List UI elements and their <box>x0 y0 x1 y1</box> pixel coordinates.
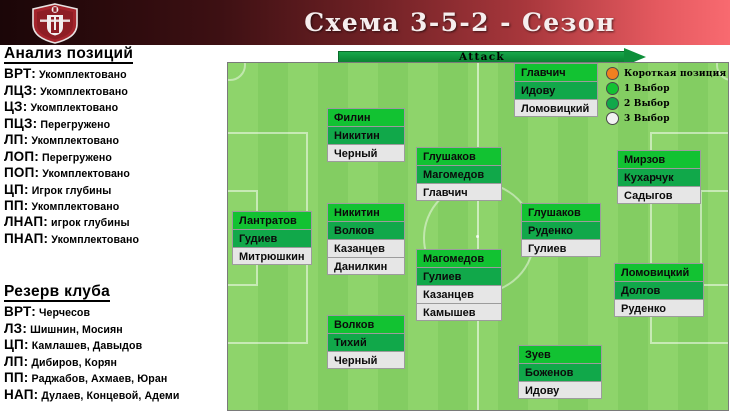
pitch-centre-spot <box>476 235 479 238</box>
analysis-row-position: ПП: <box>4 198 29 213</box>
reserve-list: ВРТ: ЧерчесовЛЗ: Шишнин, МосиянЦП: Камла… <box>0 304 222 403</box>
player-card[interactable]: Черный <box>327 144 405 162</box>
analysis-row-position: ЛЦЗ: <box>4 83 37 98</box>
player-card[interactable]: Митрюшкин <box>232 247 312 265</box>
reserve-heading: Резерв клуба <box>4 284 110 302</box>
analysis-row: ПОП: Укомплектовано <box>4 165 222 181</box>
analysis-row: ПП: Укомплектовано <box>4 198 222 214</box>
legend-item: Короткая позиция <box>606 66 728 81</box>
reserve-row: ПП: Раджабов, Ахмаев, Юран <box>4 370 222 386</box>
position-group-left-striker[interactable]: ГлавчичИдовуЛомовицкий <box>514 63 598 117</box>
analysis-heading: Анализ позиций <box>4 46 133 64</box>
player-card[interactable]: Тихий <box>327 333 405 351</box>
analysis-row: ЛНАП: игрок глубины <box>4 214 222 230</box>
player-card[interactable]: Кухарчук <box>617 168 701 186</box>
position-group-right-defensive-mid[interactable]: ГлушаковРуденкоГулиев <box>521 203 601 257</box>
reserve-row-position: ВРТ: <box>4 304 36 319</box>
player-card[interactable]: Волков <box>327 315 405 333</box>
legend-swatch-icon <box>606 112 619 125</box>
reserve-row: НАП: Дулаев, Концевой, Адеми <box>4 387 222 403</box>
analysis-row-position: ПОП: <box>4 165 39 180</box>
reserve-row-value: Раджабов, Ахмаев, Юран <box>29 373 168 385</box>
player-card[interactable]: Данилкин <box>327 257 405 275</box>
player-card[interactable]: Казанцев <box>416 285 502 303</box>
analysis-row-value: Укомплектовано <box>36 69 127 81</box>
analysis-row: ПНАП: Укомплектовано <box>4 231 222 247</box>
player-card[interactable]: Руденко <box>521 221 601 239</box>
player-card[interactable]: Гулиев <box>416 267 502 285</box>
analysis-row-value: игрок глубины <box>48 217 130 229</box>
player-card[interactable]: Никитин <box>327 203 405 221</box>
player-card[interactable]: Боженов <box>518 363 602 381</box>
player-card[interactable]: Главчич <box>514 63 598 81</box>
player-card[interactable]: Садыгов <box>617 186 701 204</box>
player-card[interactable]: Руденко <box>614 299 704 317</box>
legend-item-label: 3 Выбор <box>624 114 670 124</box>
club-crest-logo <box>25 2 85 44</box>
reserve-row-value: Шишнин, Мосиян <box>27 324 123 336</box>
legend-swatch-icon <box>606 82 619 95</box>
reserve-row: ЛЗ: Шишнин, Мосиян <box>4 321 222 337</box>
sidebar-panel: Анализ позиций ВРТ: УкомплектованоЛЦЗ: У… <box>0 45 222 411</box>
position-group-centre-back[interactable]: НикитинВолковКазанцевДанилкин <box>327 203 405 275</box>
player-card[interactable]: Гудиев <box>232 229 312 247</box>
legend-item-label: 2 Выбор <box>624 99 670 109</box>
legend-item: 3 Выбор <box>606 111 728 126</box>
reserve-row: ЦП: Камлашев, Давыдов <box>4 337 222 353</box>
player-card[interactable]: Глушаков <box>521 203 601 221</box>
slide-root: Схема 3-5-2 - Сезон Анализ позиций ВРТ: … <box>0 0 730 411</box>
reserve-row-position: ЛЗ: <box>4 321 27 336</box>
reserve-row: ЛП: Дибиров, Корян <box>4 354 222 370</box>
legend-item: 2 Выбор <box>606 96 728 111</box>
title-bar: Схема 3-5-2 - Сезон <box>0 0 730 45</box>
analysis-row-position: ЛП: <box>4 132 28 147</box>
position-group-goalkeeper[interactable]: ЛантратовГудиевМитрюшкин <box>232 211 312 265</box>
analysis-row: ЛЦЗ: Укомплектовано <box>4 83 222 99</box>
analysis-row: ЛП: Укомплектовано <box>4 132 222 148</box>
analysis-row: ВРТ: Укомплектовано <box>4 66 222 82</box>
player-card[interactable]: Гулиев <box>521 239 601 257</box>
reserve-row-value: Дулаев, Концевой, Адеми <box>38 390 179 402</box>
position-group-left-winger[interactable]: ЗуевБоженовИдову <box>518 345 602 399</box>
player-card[interactable]: Идову <box>518 381 602 399</box>
player-card[interactable]: Глушаков <box>416 147 502 165</box>
analysis-row: ЦП: Игрок глубины <box>4 182 222 198</box>
position-group-left-centre-back[interactable]: ФилинНикитинЧерный <box>327 108 405 162</box>
analysis-row: ПЦЗ: Перегружено <box>4 116 222 132</box>
player-card[interactable]: Камышев <box>416 303 502 321</box>
player-card[interactable]: Магомедов <box>416 249 502 267</box>
reserve-row-value: Черчесов <box>36 307 90 319</box>
analysis-row-position: ЦЗ: <box>4 99 27 114</box>
analysis-row-position: ПНАП: <box>4 231 48 246</box>
reserve-row-position: ЦП: <box>4 337 29 352</box>
page-title: Схема 3-5-2 - Сезон <box>200 0 720 45</box>
reserve-row-position: ПП: <box>4 370 29 385</box>
pitch-right-six-yard-box <box>700 190 729 286</box>
analysis-row: ЦЗ: Укомплектовано <box>4 99 222 115</box>
player-card[interactable]: Волков <box>327 221 405 239</box>
position-group-right-winger[interactable]: ЛомовицкийДолговРуденко <box>614 263 704 317</box>
analysis-list: ВРТ: УкомплектованоЛЦЗ: УкомплектованоЦЗ… <box>0 66 222 247</box>
legend-swatch-icon <box>606 97 619 110</box>
analysis-row-position: ЛОП: <box>4 149 39 164</box>
player-card[interactable]: Филин <box>327 108 405 126</box>
analysis-row-position: ПЦЗ: <box>4 116 37 131</box>
analysis-row-position: ВРТ: <box>4 66 36 81</box>
player-card[interactable]: Зуев <box>518 345 602 363</box>
player-card[interactable]: Ломовицкий <box>514 99 598 117</box>
analysis-row: ЛОП: Перегружено <box>4 149 222 165</box>
player-card[interactable]: Ломовицкий <box>614 263 704 281</box>
analysis-row-value: Укомплектовано <box>39 168 130 180</box>
pitch-left-corner-arc <box>227 62 246 81</box>
player-card[interactable]: Мирзов <box>617 150 701 168</box>
analysis-row-value: Укомплектовано <box>48 234 139 246</box>
reserve-row-position: НАП: <box>4 387 38 402</box>
player-card[interactable]: Казанцев <box>327 239 405 257</box>
player-card[interactable]: Магомедов <box>416 165 502 183</box>
reserve-row-value: Камлашев, Давыдов <box>29 340 143 352</box>
reserve-row: ВРТ: Черчесов <box>4 304 222 320</box>
position-group-left-defensive-mid[interactable]: ГлушаковМагомедовГлавчич <box>416 147 502 201</box>
position-group-centre-mid[interactable]: МагомедовГулиевКазанцевКамышев <box>416 249 502 321</box>
legend-list: Короткая позиция1 Выбор2 Выбор3 Выбор <box>606 66 728 126</box>
player-card[interactable]: Никитин <box>327 126 405 144</box>
legend-item-label: 1 Выбор <box>624 84 670 94</box>
analysis-row-value: Укомплектовано <box>29 201 120 213</box>
player-card[interactable]: Идову <box>514 81 598 99</box>
reserve-row-value: Дибиров, Корян <box>28 357 117 369</box>
legend-swatch-icon <box>606 67 619 80</box>
analysis-row-value: Перегружено <box>37 119 110 131</box>
analysis-row-value: Укомплектовано <box>28 135 119 147</box>
analysis-row-value: Игрок глубины <box>29 185 112 197</box>
position-group-right-centre-back[interactable]: ВолковТихийЧерный <box>327 315 405 369</box>
legend-item-label: Короткая позиция <box>624 69 726 79</box>
position-group-right-striker[interactable]: МирзовКухарчукСадыгов <box>617 150 701 204</box>
player-card[interactable]: Лантратов <box>232 211 312 229</box>
analysis-row-position: ЦП: <box>4 182 29 197</box>
analysis-row-value: Укомплектовано <box>27 102 118 114</box>
legend: Короткая позиция1 Выбор2 Выбор3 Выбор <box>606 66 728 126</box>
reserve-row-position: ЛП: <box>4 354 28 369</box>
player-card[interactable]: Черный <box>327 351 405 369</box>
analysis-row-value: Перегружено <box>39 152 112 164</box>
analysis-row-value: Укомплектовано <box>37 86 128 98</box>
legend-item: 1 Выбор <box>606 81 728 96</box>
analysis-row-position: ЛНАП: <box>4 214 48 229</box>
player-card[interactable]: Долгов <box>614 281 704 299</box>
player-card[interactable]: Главчич <box>416 183 502 201</box>
